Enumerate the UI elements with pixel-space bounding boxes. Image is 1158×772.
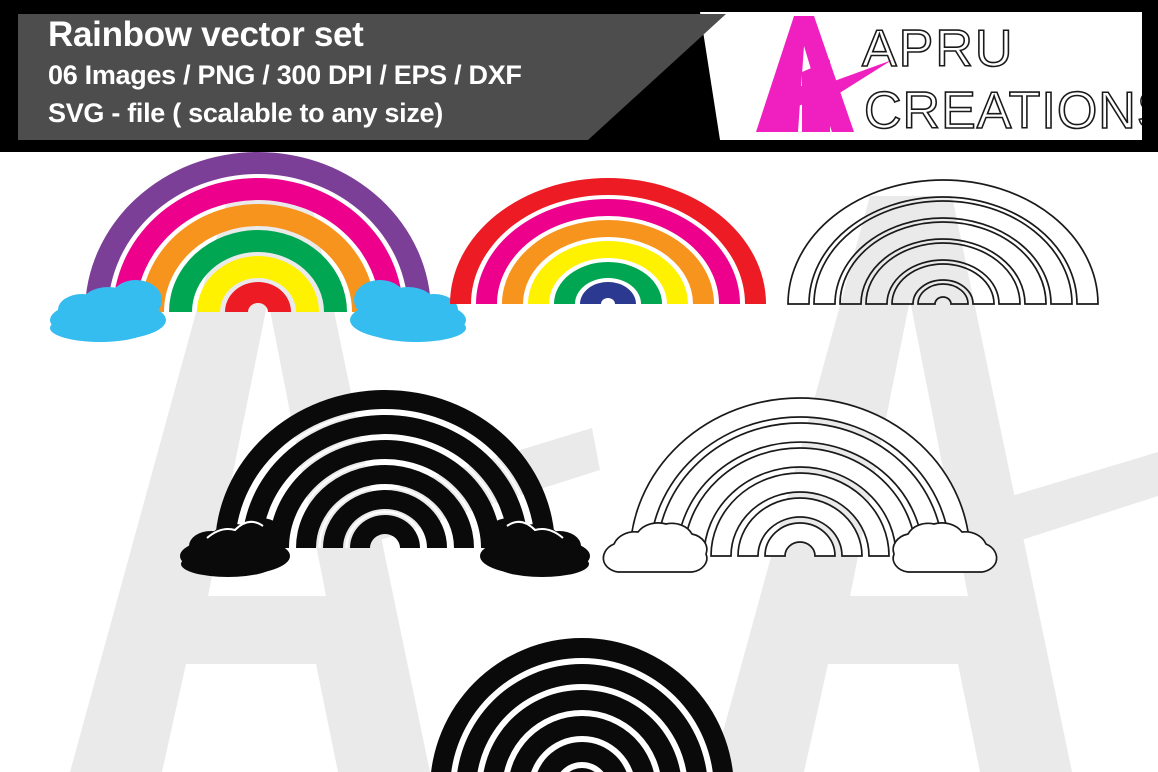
- cloud-right-black: [480, 518, 590, 577]
- banner-spec-formats: 06 Images / PNG / 300 DPI / EPS / DXF: [48, 60, 522, 91]
- rainbow-color-clouds: [50, 152, 466, 342]
- rainbow-outline-clouds: [603, 398, 996, 572]
- cloud-left-black: [180, 518, 290, 577]
- banner-title: Rainbow vector set: [48, 16, 364, 54]
- product-preview-image: Rainbow vector set 06 Images / PNG / 300…: [0, 0, 1158, 772]
- rainbow-black-clouds: [180, 390, 590, 577]
- rainbow-color-plain: [450, 178, 766, 304]
- cloud-left-color: [50, 280, 166, 342]
- cloud-right-color: [350, 280, 466, 342]
- logo-text-creations: CREATIONS: [864, 82, 1142, 140]
- rainbow-outline-plain: [788, 180, 1098, 304]
- rainbow-black-plain: [430, 638, 734, 772]
- brand-logo: APRU CREATIONS: [742, 10, 1142, 142]
- banner-spec-svg: SVG - file ( scalable to any size): [48, 98, 443, 129]
- logo-text-apru: APRU: [862, 20, 1014, 78]
